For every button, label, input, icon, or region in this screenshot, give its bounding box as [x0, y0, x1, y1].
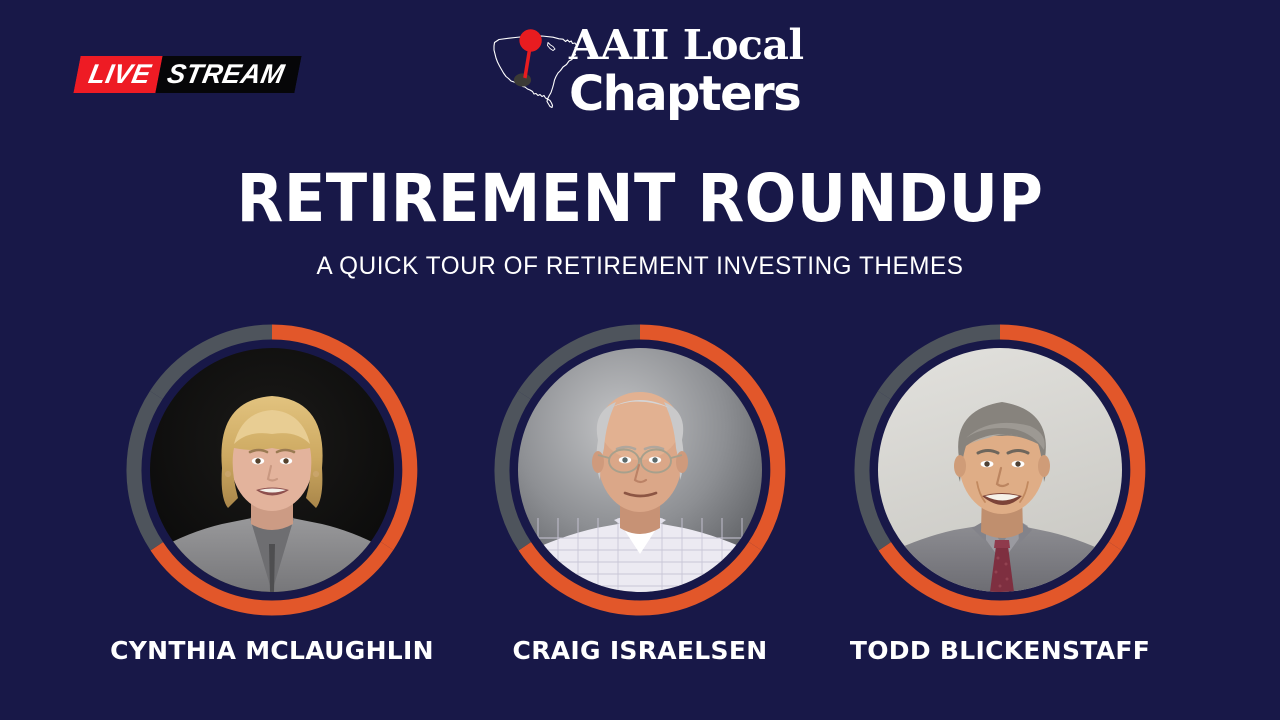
speaker-name: CRAIG ISRAELSEN [430, 636, 850, 666]
slide-canvas: LIVE STREAM AAII Local [0, 0, 1280, 720]
map-pin-icon [519, 29, 541, 51]
speaker-card: CRAIG ISRAELSEN [490, 320, 790, 680]
map-pin-shadow-icon [514, 73, 531, 86]
speaker-name: CYNTHIA MCLAUGHLIN [62, 636, 482, 666]
speaker-portrait [490, 320, 790, 620]
speaker-card: TODD BLICKENSTAFF [850, 320, 1150, 680]
logo-line-chapters: Chapters [569, 68, 809, 120]
speaker-portrait [122, 320, 422, 620]
aaii-local-chapters-logo: AAII Local Chapters [487, 22, 807, 138]
speakers-row: CYNTHIA MCLAUGHLIN [0, 320, 1280, 680]
speaker-name: TODD BLICKENSTAFF [790, 636, 1210, 666]
page-title: RETIREMENT ROUNDUP [51, 163, 1229, 235]
stream-badge-label: STREAM [165, 59, 287, 90]
logo-line-aaii-local: AAII Local [569, 22, 809, 68]
live-badge-label: LIVE [86, 59, 154, 90]
speaker-photo [878, 348, 1122, 592]
speaker-photo [150, 348, 394, 592]
logo-wordmark: AAII Local Chapters [569, 22, 809, 138]
page-subtitle: A QUICK TOUR OF RETIREMENT INVESTING THE… [19, 251, 1261, 281]
live-badge-segment: LIVE [73, 56, 162, 93]
speaker-photo [518, 348, 762, 592]
stream-badge-segment: STREAM [155, 56, 302, 93]
speaker-card: CYNTHIA MCLAUGHLIN [122, 320, 422, 680]
speaker-portrait [850, 320, 1150, 620]
live-stream-badge: LIVE STREAM [73, 56, 301, 93]
